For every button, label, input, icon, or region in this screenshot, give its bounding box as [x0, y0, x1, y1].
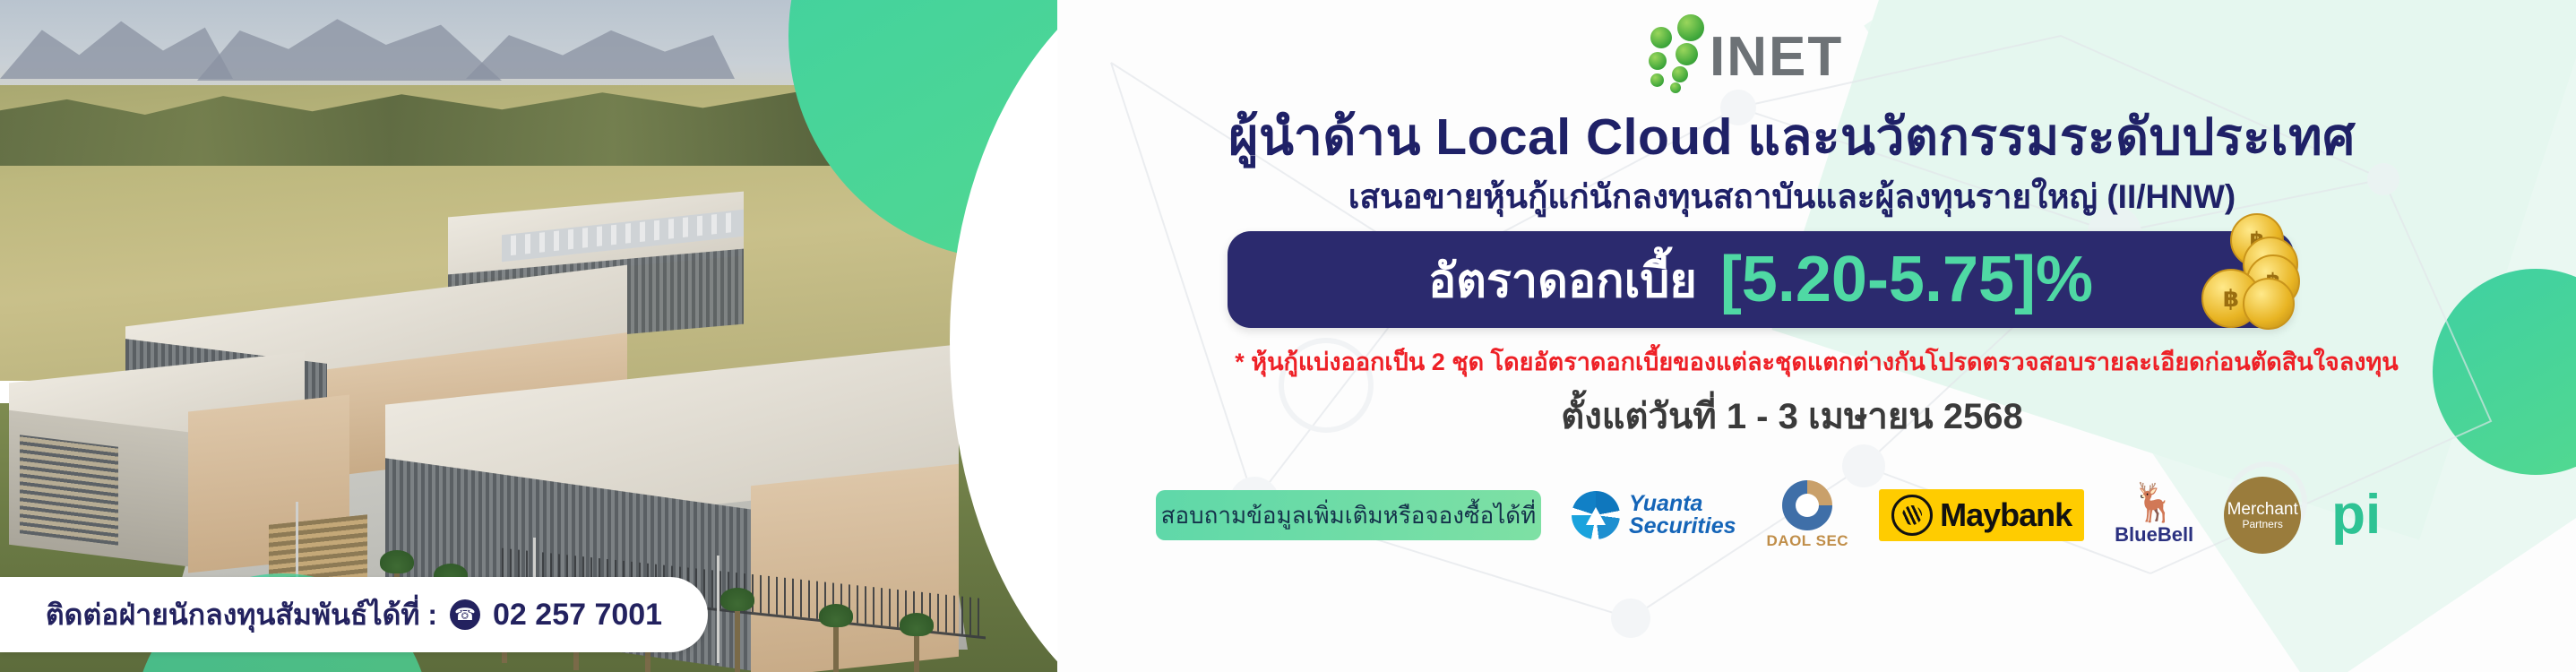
- bottom-row: สอบถามข้อมูลเพิ่มเติมหรือจองซื้อได้ที่ Y…: [1057, 466, 2576, 564]
- daol-line1: DAOL: [1767, 532, 1812, 549]
- green-bubbles-icon: [1631, 13, 1713, 90]
- broker-logo-merchant-partners[interactable]: Merchant Partners: [2224, 477, 2301, 554]
- broker-logo-maybank[interactable]: Maybank: [1879, 477, 2084, 554]
- yuanta-line2: Securities: [1629, 513, 1736, 538]
- maybank-tiger-icon: [1891, 495, 1933, 536]
- broker-logo-pi[interactable]: pi: [2331, 477, 2381, 554]
- interest-rate-label: อัตราดอกเบี้ย: [1428, 243, 1697, 317]
- bluebell-label: BlueBell: [2115, 523, 2193, 547]
- palm-tree: [914, 627, 919, 672]
- merchant-line2: Partners: [2242, 519, 2282, 530]
- inet-logo: INET: [1631, 13, 1926, 90]
- phone-icon: ☎: [450, 599, 480, 630]
- inet-logo-text: INET: [1710, 25, 1843, 89]
- daol-mark-icon: [1782, 480, 1832, 530]
- daol-line2: SEC: [1816, 532, 1848, 549]
- interest-rate-value: [5.20-5.75]%: [1720, 247, 2093, 312]
- gold-coins-icon: ฿ ฿ ฿: [2191, 213, 2325, 346]
- inet-promotional-banner: INET ผู้นำด้าน Local Cloud และนวัตกรรมระ…: [0, 0, 2576, 672]
- light-pole: [717, 556, 719, 663]
- investor-relations-contact: ติดต่อฝ่ายนักลงทุนสัมพันธ์ได้ที่ : ☎ 02 …: [0, 577, 708, 652]
- palm-tree: [833, 618, 839, 672]
- broker-logo-yuanta[interactable]: Yuanta Securities: [1572, 477, 1736, 554]
- broker-logo-bluebell[interactable]: 🦌 BlueBell: [2115, 477, 2193, 554]
- yuanta-mark-icon: [1572, 491, 1620, 539]
- broker-logo-daol[interactable]: DAOL SEC: [1767, 477, 1849, 554]
- pi-label: pi: [2331, 493, 2381, 538]
- interest-rate-section: อัตราดอกเบี้ย [5.20-5.75]% ฿ ฿ ฿: [1228, 231, 2356, 339]
- footnote-disclaimer: * หุ้นกู้แบ่งออกเป็น 2 ชุด โดยอัตราดอกเบ…: [1057, 342, 2576, 381]
- cta-button[interactable]: สอบถามข้อมูลเพิ่มเติมหรือจองซื้อได้ที่: [1156, 490, 1541, 540]
- content-panel: INET ผู้นำด้าน Local Cloud และนวัตกรรมระ…: [1057, 0, 2576, 672]
- palm-tree: [735, 602, 740, 672]
- contact-label: ติดต่อฝ่ายนักลงทุนสัมพันธ์ได้ที่ :: [46, 592, 437, 638]
- merchant-line1: Merchant: [2227, 501, 2298, 519]
- contact-phone-number[interactable]: 02 257 7001: [493, 598, 662, 633]
- yuanta-line1: Yuanta: [1629, 491, 1702, 516]
- deer-icon: 🦌: [2131, 484, 2177, 521]
- offering-dates: ตั้งแต่วันที่ 1 - 3 เมษายน 2568: [1057, 387, 2527, 444]
- interest-rate-badge: อัตราดอกเบี้ย [5.20-5.75]%: [1228, 231, 2294, 328]
- broker-logos: Yuanta Securities DAOL SEC: [1572, 477, 2381, 554]
- page-title: ผู้นำด้าน Local Cloud และนวัตกรรมระดับปร…: [1057, 97, 2527, 177]
- maybank-label: Maybank: [1940, 496, 2072, 534]
- data-center-photo: [0, 0, 1116, 672]
